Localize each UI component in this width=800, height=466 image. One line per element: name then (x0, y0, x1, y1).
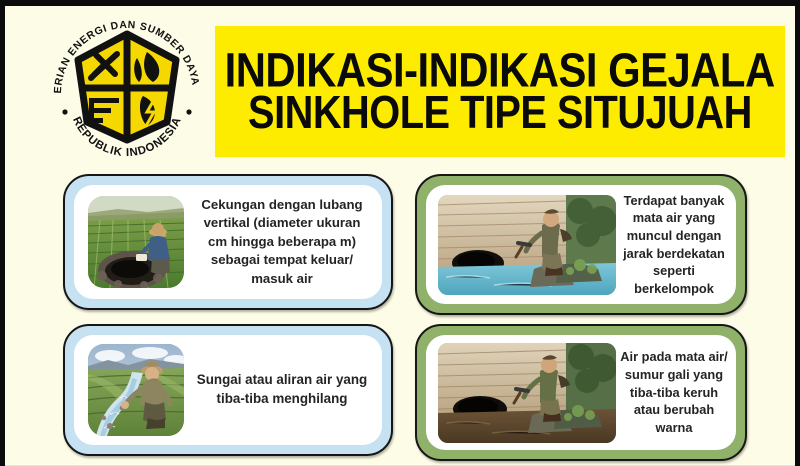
sinkhole-in-rice-field-photo (88, 196, 184, 288)
logo-dot-right (186, 109, 191, 114)
card-sungai-hilang[interactable]: Sungai atau aliran air yang tiba-tiba me… (63, 324, 393, 456)
title-banner: INDIKASI-INDIKASI GEJALA SINKHOLE TIPE S… (215, 26, 785, 157)
vanishing-stream-photo (88, 344, 184, 436)
logo-shield (78, 34, 176, 140)
indicator-card-grid: Cekungan dengan lubang vertikal (diamete… (5, 169, 795, 466)
kesdm-logo: KEMENTERIAN ENERGI DAN SUMBER DAYA MINER… (43, 12, 211, 167)
card-inner: Sungai atau aliran air yang tiba-tiba me… (74, 335, 382, 445)
card-inner: Terdapat banyak mata air yang muncul den… (426, 185, 736, 304)
clear-spring-at-cave-mouth-photo (438, 195, 616, 295)
infographic-poster: KEMENTERIAN ENERGI DAN SUMBER DAYA MINER… (0, 0, 800, 466)
card-inner: Cekungan dengan lubang vertikal (diamete… (74, 185, 382, 299)
card-air-keruh[interactable]: Air pada mata air/ sumur gali yang tiba-… (415, 324, 747, 461)
title-line-2: SINKHOLE TIPE SITUJUAH (248, 90, 752, 137)
card-caption: Terdapat banyak mata air yang muncul den… (616, 192, 736, 298)
card-mata-air[interactable]: Terdapat banyak mata air yang muncul den… (415, 174, 747, 315)
logo-dot-left (62, 109, 67, 114)
card-caption: Air pada mata air/ sumur gali yang tiba-… (616, 348, 736, 436)
card-caption: Sungai atau aliran air yang tiba-tiba me… (184, 371, 382, 409)
kesdm-logo-icon: KEMENTERIAN ENERGI DAN SUMBER DAYA MINER… (43, 12, 211, 167)
card-caption: Cekungan dengan lubang vertikal (diamete… (184, 196, 382, 288)
card-inner: Air pada mata air/ sumur gali yang tiba-… (426, 335, 736, 450)
card-cekungan[interactable]: Cekungan dengan lubang vertikal (diamete… (63, 174, 393, 310)
poster-header: KEMENTERIAN ENERGI DAN SUMBER DAYA MINER… (5, 6, 795, 168)
turbid-spring-at-cave-mouth-photo (438, 343, 616, 443)
